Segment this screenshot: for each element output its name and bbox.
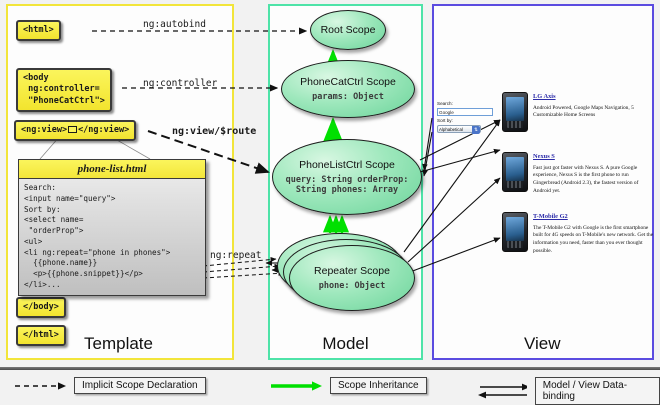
phone-list-html-card: phone-list.html Search: <input name="que…: [18, 159, 206, 296]
sort-label: Sort by:: [437, 118, 495, 125]
sort-by-value: Alphabetical: [439, 127, 463, 132]
phone-keypad: [507, 181, 523, 188]
legend-label: Implicit Scope Declaration: [74, 377, 206, 394]
legend-divider: [0, 367, 660, 370]
scope-repeater-front: Repeater Scope phone: Object: [289, 245, 415, 311]
phone-screen: [506, 217, 524, 241]
phone-text: T-Mobile G2 The T-Mobile G2 with Google …: [533, 212, 654, 255]
legend: Implicit Scope Declaration Scope Inherit…: [0, 367, 660, 405]
tag-html-close: </html>: [16, 325, 66, 346]
phone-thumbnail: [502, 152, 528, 192]
edge-label-autobind: ng:autobind: [143, 19, 206, 30]
scope-phonelistctrl: PhoneListCtrl Scope query: String orderP…: [272, 139, 422, 215]
search-widget: Search: Google Sort by: Alphabetical⇅: [437, 101, 495, 133]
phone-keypad: [507, 121, 523, 128]
legend-item-data-binding: Model / View Data-binding: [478, 377, 660, 405]
diagram-root: Template Model View: [0, 0, 660, 405]
dashed-arrow-icon: [14, 380, 66, 392]
panel-model-label: Model: [270, 334, 421, 354]
phone-text: LG Axis Android Powered, Google Maps Nav…: [533, 92, 654, 132]
search-input[interactable]: Google: [437, 108, 493, 116]
phone-description: Fast just got faster with Nexus S. A pur…: [533, 165, 654, 196]
edge-label-ngview: ng:view/$route: [172, 126, 256, 137]
phone-thumbnail: [502, 92, 528, 132]
tag-html-open: <html>: [16, 20, 61, 41]
scope-phonecatctrl-props: params: Object: [312, 92, 384, 102]
tag-ngview: <ng:view></ng:view>: [14, 120, 136, 141]
viewport-box-icon: [68, 126, 77, 133]
phone-thumbnail: [502, 212, 528, 252]
chevron-updown-icon: ⇅: [472, 126, 480, 134]
phone-list-item[interactable]: LG Axis Android Powered, Google Maps Nav…: [502, 92, 654, 132]
edge-label-ngrepeat: ng:repeat: [210, 250, 261, 261]
edge-label-controller: ng:controller: [143, 78, 217, 89]
phone-screen: [506, 97, 524, 121]
card-title: phone-list.html: [19, 160, 205, 179]
phone-description: The T-Mobile G2 with Google is the first…: [533, 225, 654, 256]
scope-phonelistctrl-props: query: String orderProp: String phones: …: [273, 175, 421, 195]
phone-name-link[interactable]: Nexus S: [533, 152, 654, 162]
scope-root: Root Scope: [310, 10, 386, 50]
panel-view-label: View: [434, 334, 652, 354]
tag-ngview-open: <ng:view>: [21, 125, 67, 135]
search-label: Search:: [437, 101, 495, 108]
phone-text: Nexus S Fast just got faster with Nexus …: [533, 152, 654, 195]
card-code: Search: <input name="query"> Sort by: <s…: [19, 179, 205, 295]
scope-repeater-props: phone: Object: [319, 281, 386, 291]
legend-item-implicit-scope: Implicit Scope Declaration: [14, 377, 206, 394]
phone-keypad: [507, 241, 523, 248]
sort-by-select[interactable]: Alphabetical⇅: [437, 125, 481, 133]
scope-phonecatctrl: PhoneCatCtrl Scope params: Object: [281, 60, 415, 118]
legend-item-scope-inheritance: Scope Inheritance: [270, 377, 427, 394]
phone-name-link[interactable]: LG Axis: [533, 92, 654, 102]
scope-repeater-name: Repeater Scope: [314, 265, 390, 277]
scope-phonelistctrl-name: PhoneListCtrl Scope: [299, 159, 395, 171]
scope-phonecatctrl-name: PhoneCatCtrl Scope: [300, 76, 396, 88]
tag-ngview-close: </ng:view>: [78, 125, 129, 135]
scope-root-name: Root Scope: [321, 24, 376, 36]
legend-label: Scope Inheritance: [330, 377, 427, 394]
phone-description: Android Powered, Google Maps Navigation,…: [533, 105, 654, 120]
legend-label: Model / View Data-binding: [535, 377, 660, 405]
green-arrow-icon: [270, 380, 322, 392]
phone-name-link[interactable]: T-Mobile G2: [533, 212, 654, 222]
phone-list-item[interactable]: Nexus S Fast just got faster with Nexus …: [502, 152, 654, 195]
phone-list-item[interactable]: T-Mobile G2 The T-Mobile G2 with Google …: [502, 212, 654, 255]
tag-body-open: <body ng:controller= "PhoneCatCtrl">: [16, 68, 112, 112]
phone-screen: [506, 157, 524, 181]
tag-body-close: </body>: [16, 297, 66, 318]
double-arrow-icon: [478, 383, 527, 399]
